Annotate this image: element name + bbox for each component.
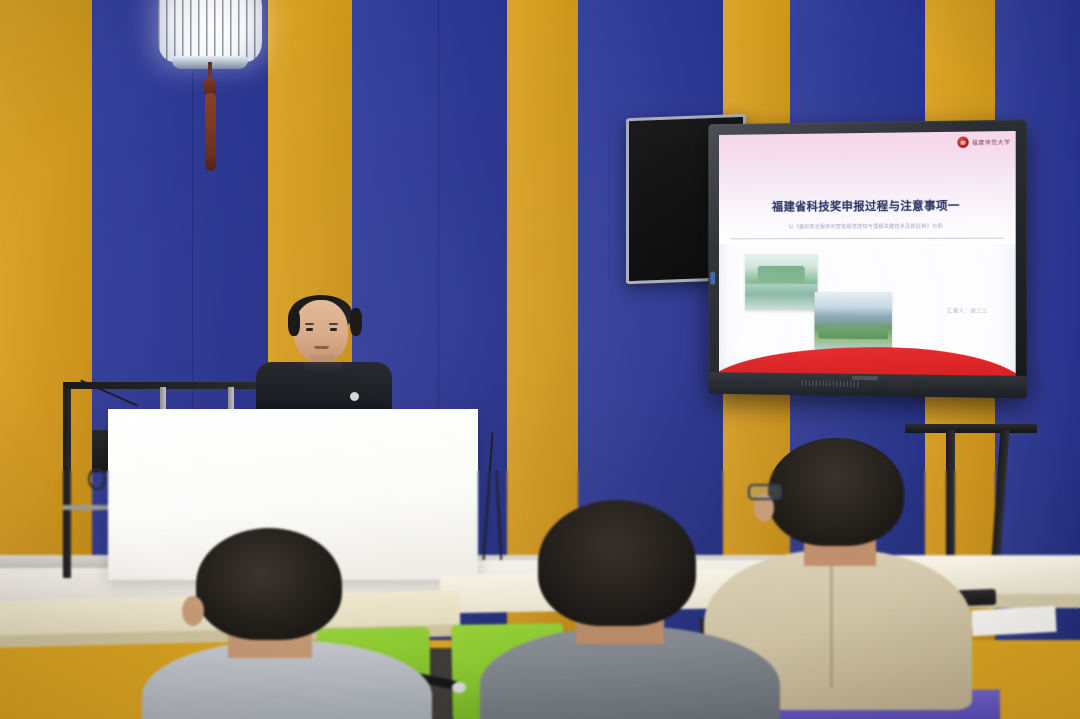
- attendee-left-hair: [196, 528, 342, 640]
- speaker-hair-side: [288, 308, 300, 336]
- speaker-eyebrow: [329, 323, 338, 325]
- slide-screen[interactable]: 福建师范大学 福建省科技奖申报过程与注意事项一 以《面向安全服务的智能视觉感知与…: [719, 131, 1016, 376]
- attendee-right-hair: [768, 438, 904, 546]
- university-seal-icon: [958, 137, 969, 148]
- speaker-person: [254, 300, 394, 418]
- university-logo: 福建师范大学: [958, 136, 1011, 148]
- canal-photo: [745, 254, 818, 312]
- blazer-seam: [830, 558, 833, 688]
- paper-document: [971, 606, 1056, 636]
- university-name: 福建师范大学: [972, 138, 1011, 147]
- podium-top-surface: [108, 409, 478, 415]
- microphone-head-icon: [452, 682, 466, 693]
- podium-frame-post: [63, 382, 71, 578]
- speaker-mouth: [314, 346, 329, 349]
- presentation-room-photo: 福建师范大学 福建省科技奖申报过程与注意事项一 以《面向安全服务的智能视觉感知与…: [0, 0, 1080, 719]
- display-speaker-grille: [802, 380, 859, 387]
- interactive-flat-panel-display[interactable]: 福建师范大学 福建省科技奖申报过程与注意事项一 以《面向安全服务的智能视觉感知与…: [708, 120, 1027, 399]
- coiled-cable: [88, 468, 106, 490]
- attendee-center: [498, 500, 758, 719]
- speaker-collar: [304, 362, 342, 376]
- landscape-photo: [815, 292, 892, 350]
- lantern-tassel: [205, 93, 216, 171]
- attendee-left-ear: [182, 596, 204, 626]
- attendee-left: [168, 528, 408, 719]
- slide-presenter-label: 汇报人：张三三: [947, 307, 988, 314]
- display-side-button[interactable]: [710, 272, 715, 285]
- eyeglasses-icon: [748, 484, 782, 500]
- equipment-stand-top: [905, 424, 1037, 433]
- slide-subtitle: 以《面向安全服务的智能视觉感知与理解关键技术及其应用》为例: [719, 222, 1016, 230]
- speaker-eye: [306, 328, 313, 331]
- speaker-head: [294, 300, 348, 362]
- speaker-hair-side: [350, 308, 362, 336]
- attendee-center-hair: [538, 500, 696, 626]
- speaker-eyebrow: [305, 323, 314, 325]
- wall-stripe-gold: [0, 0, 92, 640]
- display-brand-mark: [852, 376, 878, 380]
- jacket-logo-icon: [350, 392, 359, 401]
- pendant-lantern: [158, 0, 262, 62]
- speaker-eye: [330, 328, 337, 331]
- display-bezel: 福建师范大学 福建省科技奖申报过程与注意事项一 以《面向安全服务的智能视觉感知与…: [708, 120, 1027, 399]
- slide-wave-accent: [719, 346, 1016, 376]
- lantern-shade: [158, 0, 262, 62]
- slide-title: 福建省科技奖申报过程与注意事项一: [719, 197, 1016, 215]
